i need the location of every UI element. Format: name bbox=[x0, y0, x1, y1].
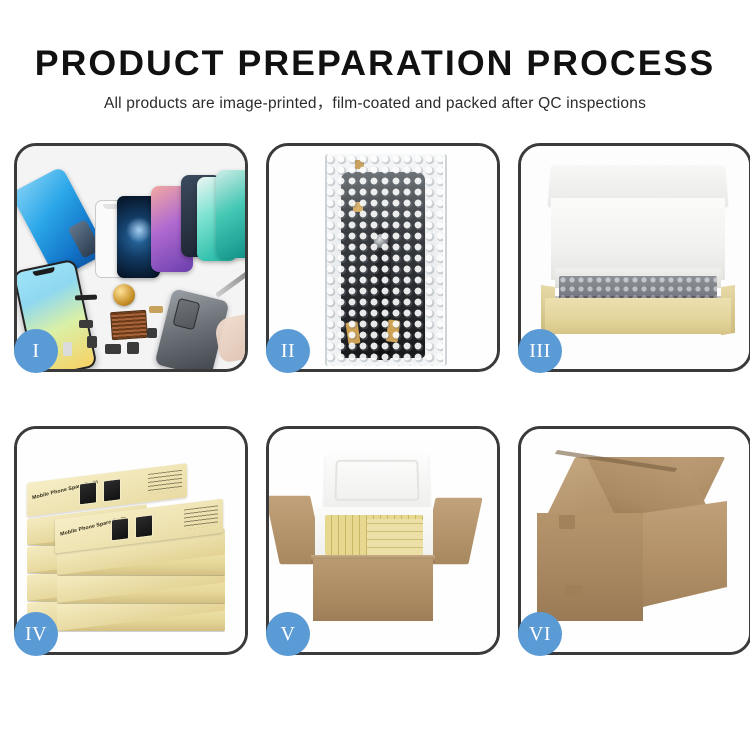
page-subtitle: All products are image-printed，film-coat… bbox=[0, 84, 750, 114]
retail-box bbox=[57, 605, 225, 631]
step-numeral: VI bbox=[529, 624, 551, 644]
small-part-icon bbox=[147, 328, 157, 338]
product-preparation-infographic: PRODUCT PREPARATION PROCESS All products… bbox=[0, 0, 750, 750]
bag-edge bbox=[325, 154, 447, 366]
step-badge-4: IV bbox=[14, 612, 58, 656]
box-window-icon bbox=[111, 517, 129, 541]
step-badge-6: VI bbox=[518, 612, 562, 656]
step-numeral: V bbox=[281, 624, 296, 644]
bubble-wrap-bag bbox=[325, 154, 443, 366]
page-title: PRODUCT PREPARATION PROCESS bbox=[0, 0, 750, 84]
sim-tray-icon bbox=[63, 342, 72, 356]
carton-front-icon bbox=[313, 559, 433, 621]
small-part-icon bbox=[127, 342, 139, 354]
small-part-icon bbox=[79, 320, 93, 328]
kraft-box-front-icon bbox=[545, 298, 731, 334]
carton-tape-icon bbox=[565, 585, 583, 597]
step-numeral: I bbox=[32, 341, 39, 361]
process-step-grid: I II bbox=[14, 143, 736, 655]
carton-front-icon bbox=[537, 513, 643, 621]
speaker-coil-icon bbox=[113, 284, 135, 306]
carton-side-icon bbox=[643, 501, 727, 607]
process-step-1: I bbox=[14, 143, 248, 372]
process-step-3: III bbox=[518, 143, 750, 372]
foam-lid-icon bbox=[324, 452, 431, 513]
process-step-5: V bbox=[266, 426, 500, 655]
step-badge-2: II bbox=[266, 329, 310, 373]
box-window-icon bbox=[103, 478, 121, 502]
retail-box bbox=[57, 549, 225, 575]
box-window-icon bbox=[79, 481, 97, 505]
retail-box bbox=[57, 577, 225, 603]
step-badge-3: III bbox=[518, 329, 562, 373]
carton-tape-icon bbox=[559, 515, 575, 529]
green-phone-icon bbox=[216, 170, 245, 258]
tweezers-icon bbox=[215, 271, 245, 297]
step-numeral: III bbox=[529, 341, 550, 361]
chip-grid-icon bbox=[110, 310, 148, 340]
process-step-4: Mobile Phone Spare Parts Mobile Phone Sp… bbox=[14, 426, 248, 655]
process-step-6: VI bbox=[518, 426, 750, 655]
step-numeral: IV bbox=[25, 624, 47, 644]
box-window-icon bbox=[135, 514, 153, 538]
box-spec-lines bbox=[148, 470, 182, 494]
packed-boxes-icon bbox=[367, 519, 423, 555]
step-numeral: II bbox=[281, 341, 295, 361]
step-badge-1: I bbox=[14, 329, 58, 373]
retail-box-stack: Mobile Phone Spare Parts Mobile Phone Sp… bbox=[27, 453, 241, 633]
earpiece-bar-icon bbox=[75, 295, 97, 301]
small-part-icon bbox=[87, 336, 97, 348]
header: PRODUCT PREPARATION PROCESS All products… bbox=[0, 0, 750, 114]
small-part-icon bbox=[105, 344, 121, 354]
gold-contact-icon bbox=[149, 306, 163, 313]
process-step-2: II bbox=[266, 143, 500, 372]
box-spec-lines bbox=[184, 505, 218, 529]
step-badge-5: V bbox=[266, 612, 310, 656]
